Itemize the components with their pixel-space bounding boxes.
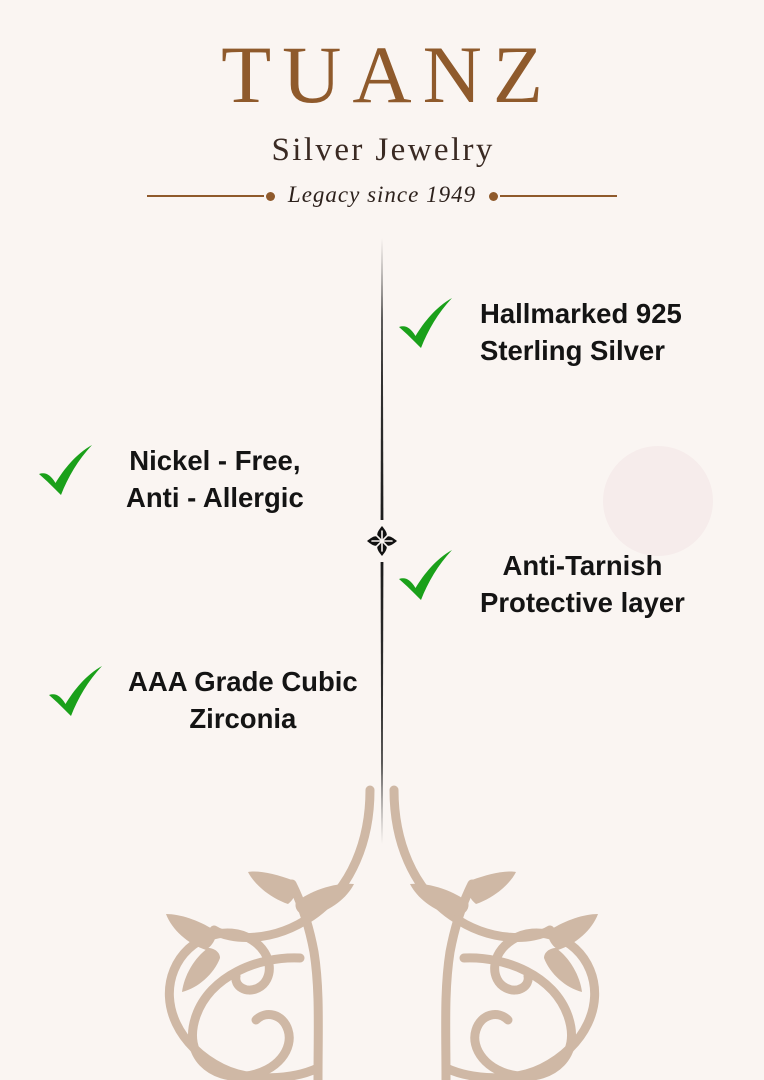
brand-tagline: Legacy since 1949 (277, 183, 487, 209)
rule-dot-right (489, 192, 498, 201)
poster-canvas: TUANZ Silver Jewelry Legacy since 1949 (0, 0, 764, 1080)
brand-subtitle: Silver Jewelry (0, 116, 764, 167)
accent-circle-icon (603, 446, 713, 556)
brand-name: TUANZ (0, 0, 764, 116)
brand-divider-rule: Legacy since 1949 (147, 167, 617, 209)
rule-line-right (500, 195, 617, 197)
quatrefoil-ornament-icon (365, 524, 399, 558)
feature-label: Hallmarked 925 Sterling Silver (458, 296, 682, 369)
feature-item: Anti-Tarnish Protective layer (396, 548, 685, 621)
check-icon (36, 443, 98, 501)
feature-item: Hallmarked 925 Sterling Silver (396, 296, 682, 369)
brand-header: TUANZ Silver Jewelry Legacy since 1949 (0, 0, 764, 209)
rule-line-left (147, 195, 264, 197)
feature-item: Nickel - Free, Anti - Allergic (36, 443, 304, 516)
feature-item: AAA Grade Cubic Zirconia (46, 664, 358, 737)
rule-dot-left (266, 192, 275, 201)
center-divider (374, 238, 390, 844)
feature-label: AAA Grade Cubic Zirconia (108, 664, 358, 737)
check-icon (396, 548, 458, 606)
feature-label: Anti-Tarnish Protective layer (458, 548, 685, 621)
check-icon (396, 296, 458, 354)
check-icon (46, 664, 108, 722)
feature-label: Nickel - Free, Anti - Allergic (98, 443, 304, 516)
